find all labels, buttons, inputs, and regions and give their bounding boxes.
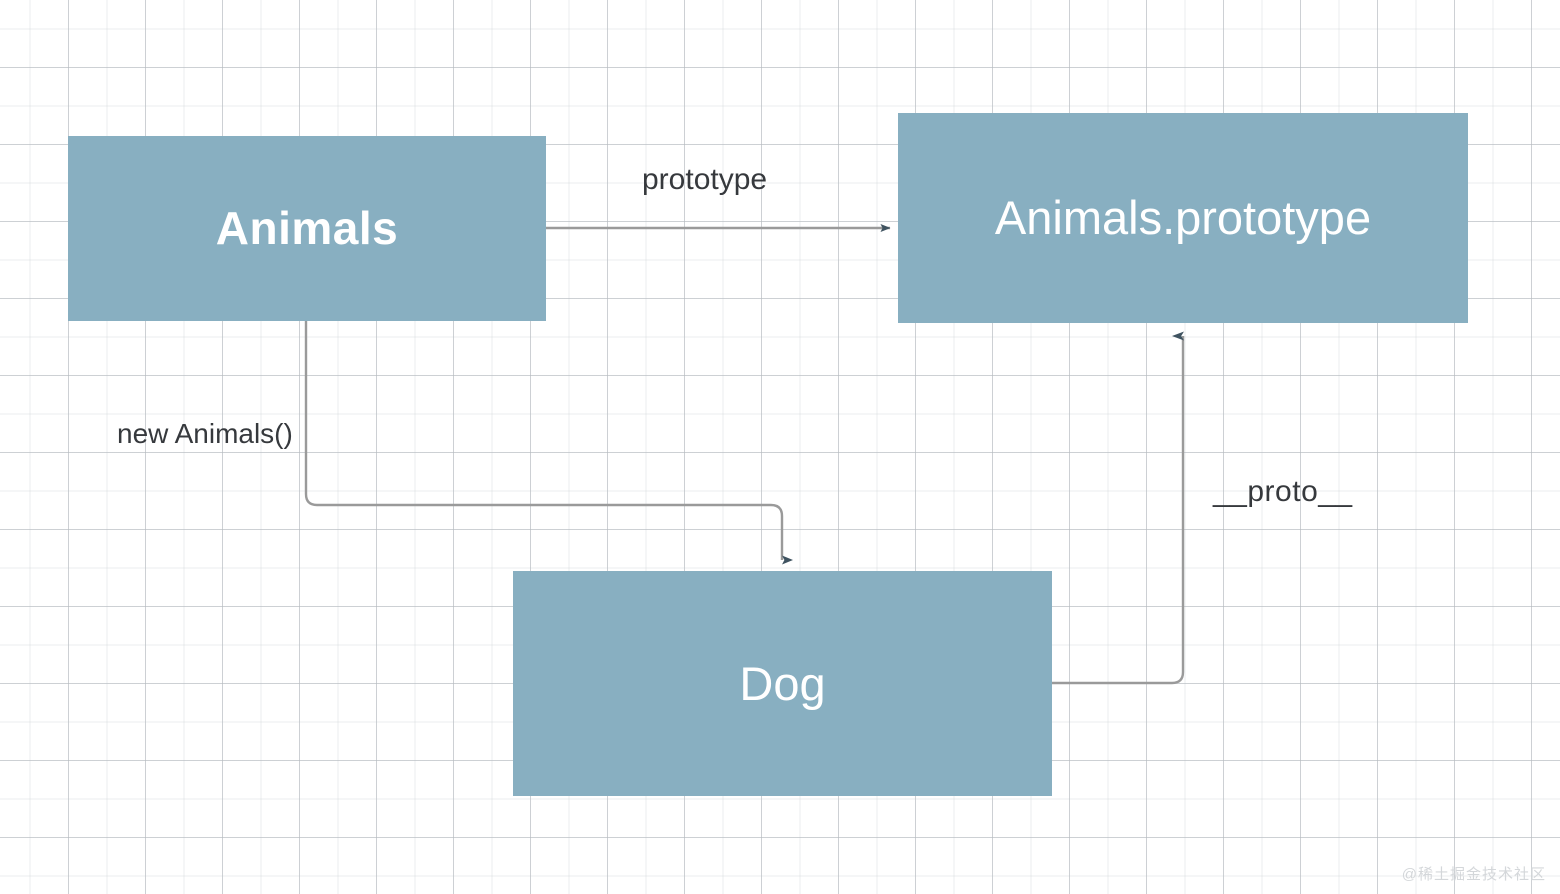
- edge-label-new-animals: new Animals(): [117, 418, 293, 450]
- node-animals-label: Animals: [206, 203, 408, 254]
- node-dog-label: Dog: [729, 658, 835, 710]
- edge-new-animals-path: [306, 321, 782, 560]
- node-animals[interactable]: Animals: [68, 136, 546, 321]
- node-animals-prototype[interactable]: Animals.prototype: [898, 113, 1468, 323]
- watermark: @稀土掘金技术社区: [1402, 863, 1546, 884]
- edge-proto-path: [1052, 336, 1183, 683]
- edge-label-proto: __proto__: [1213, 475, 1353, 509]
- diagram-canvas: Animals Animals.prototype Dog prototype …: [0, 0, 1560, 894]
- node-dog[interactable]: Dog: [513, 571, 1052, 796]
- node-animals-prototype-label: Animals.prototype: [985, 192, 1381, 244]
- edge-label-prototype: prototype: [642, 163, 767, 197]
